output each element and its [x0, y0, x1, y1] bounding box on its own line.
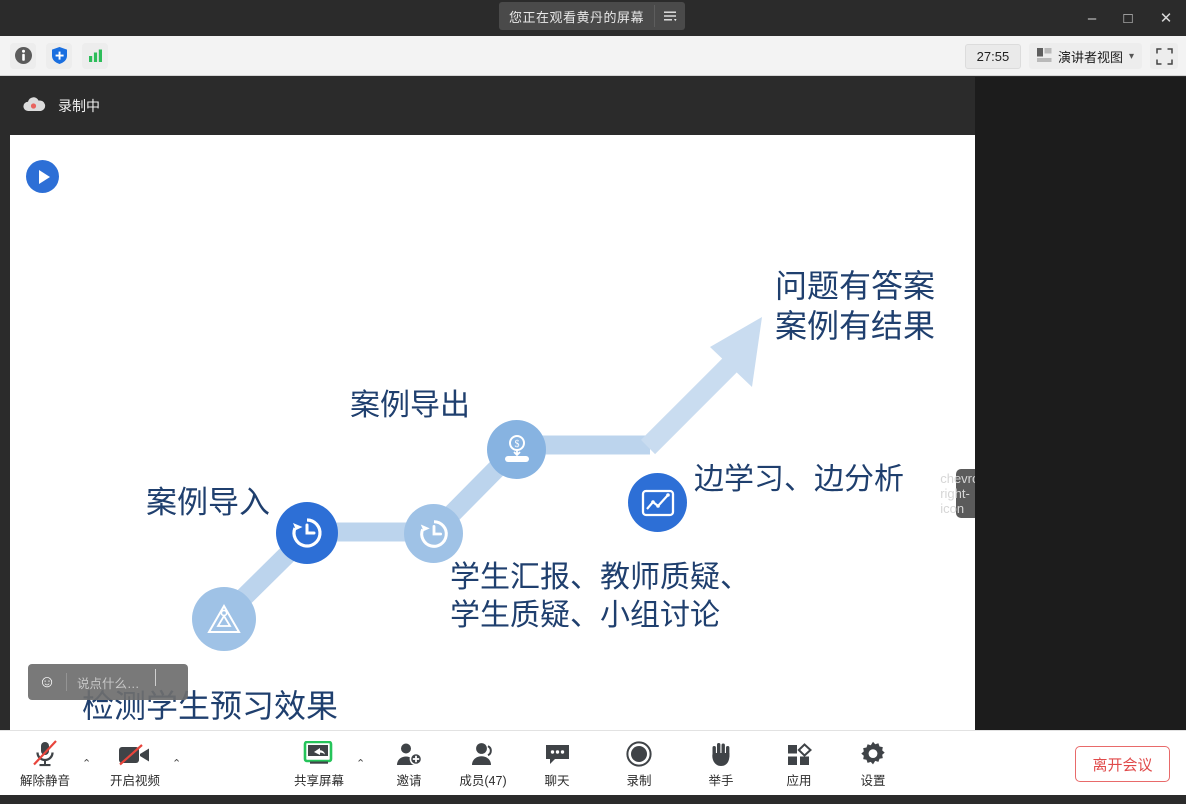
- apps-label: 应用: [786, 770, 811, 789]
- shield-security-icon[interactable]: [46, 43, 72, 69]
- microphone-muted-icon: [31, 738, 59, 767]
- history-clock-icon: [289, 515, 325, 551]
- raise-hand-button[interactable]: 举手: [684, 738, 758, 790]
- raise-hand-label: 举手: [708, 770, 733, 789]
- recording-indicator-bar: 录制中: [0, 77, 975, 135]
- record-label: 录制: [626, 770, 651, 789]
- network-signal-icon[interactable]: [82, 43, 108, 69]
- presentation-slide[interactable]: $ 问题有答案 案例有结果 案例导出 边学习、边分析 案例导入 学生汇报、教师质…: [10, 135, 975, 769]
- top-toolbar: 27:55 演讲者视图 ▾: [0, 36, 1186, 76]
- node-money-export[interactable]: $: [487, 420, 546, 479]
- slide-text-answer: 问题有答案 案例有结果: [775, 266, 935, 346]
- panel-collapse-handle[interactable]: chevron-right-icon: [956, 469, 975, 518]
- settings-label: 设置: [860, 770, 885, 789]
- apps-grid-icon: [786, 738, 812, 767]
- cloud-recording-icon: [22, 97, 46, 116]
- chat-input-placeholder: 说点什么…: [77, 673, 140, 692]
- slide-text-analyze: 边学习、边分析: [694, 461, 904, 499]
- recording-label: 录制中: [58, 96, 100, 116]
- participant-rail: 曹慧 护理系25张晓波: [975, 77, 1186, 730]
- share-screen-icon: [303, 738, 335, 767]
- toolbar-right-group: 27:55 演讲者视图 ▾: [965, 36, 1178, 76]
- close-button[interactable]: ✕: [1146, 0, 1186, 36]
- gear-icon: [860, 738, 886, 767]
- triangle-network-icon: [206, 603, 242, 635]
- view-mode-selector[interactable]: 演讲者视图 ▾: [1029, 43, 1142, 69]
- video-button-label: 开启视频: [110, 770, 160, 789]
- node-clock-report[interactable]: [404, 504, 463, 563]
- layout-view-icon: [1037, 48, 1052, 65]
- leave-meeting-button[interactable]: 离开会议: [1075, 746, 1170, 782]
- invite-button[interactable]: 邀请: [372, 738, 446, 790]
- participants-icon: [469, 738, 497, 767]
- money-hand-icon: $: [500, 434, 534, 466]
- share-screen-label: 共享屏幕: [294, 770, 344, 789]
- view-mode-label: 演讲者视图: [1058, 47, 1123, 66]
- audio-options-caret[interactable]: ⌃: [82, 757, 91, 770]
- chart-analysis-icon: [641, 488, 675, 518]
- meeting-timer: 27:55: [965, 44, 1021, 69]
- chevron-down-icon: ▾: [1129, 51, 1134, 62]
- mute-button-label: 解除静音: [20, 770, 70, 789]
- video-options-caret[interactable]: ⌃: [172, 757, 181, 770]
- slide-text-import: 案例导入: [146, 484, 270, 523]
- chat-button[interactable]: 聊天: [520, 738, 594, 790]
- fullscreen-icon[interactable]: [1150, 43, 1178, 69]
- share-screen-button[interactable]: 共享屏幕: [282, 738, 356, 790]
- sharing-notice-badge[interactable]: 您正在观看黄丹的屏幕: [499, 2, 685, 30]
- maximize-button[interactable]: □: [1110, 0, 1146, 36]
- settings-button[interactable]: 设置: [836, 738, 910, 790]
- chat-input-pill[interactable]: ☺ 说点什么…: [28, 664, 188, 700]
- hamburger-menu-icon[interactable]: [655, 2, 685, 30]
- mute-button[interactable]: 解除静音: [8, 738, 82, 790]
- text-caret: [155, 669, 156, 686]
- svg-text:$: $: [514, 439, 519, 450]
- node-clock-import[interactable]: [276, 502, 338, 564]
- node-triangle-network[interactable]: [192, 587, 256, 651]
- divider: [66, 673, 67, 691]
- camera-muted-icon: [118, 738, 152, 767]
- sharing-notice-label: 您正在观看黄丹的屏幕: [509, 7, 644, 26]
- title-bar: 您正在观看黄丹的屏幕 – □ ✕: [0, 0, 1186, 36]
- shared-screen-stage: 录制中: [0, 77, 975, 730]
- history-clock-icon: [417, 517, 451, 551]
- chat-label: 聊天: [544, 770, 569, 789]
- record-button[interactable]: 录制: [602, 738, 676, 790]
- share-options-caret[interactable]: ⌃: [356, 757, 365, 770]
- minimize-button[interactable]: –: [1074, 0, 1110, 36]
- window-controls: – □ ✕: [1074, 0, 1186, 36]
- participants-label: 成员(47): [459, 770, 506, 789]
- meeting-controls-bar: 解除静音 ⌃ 开启视频 ⌃ 共享屏幕 ⌃: [0, 730, 1186, 795]
- participants-button[interactable]: 成员(47): [446, 738, 520, 790]
- info-icon[interactable]: [10, 43, 36, 69]
- record-icon: [626, 738, 652, 767]
- apps-button[interactable]: 应用: [762, 738, 836, 790]
- invite-user-icon: [395, 738, 423, 767]
- raise-hand-icon: [709, 738, 734, 767]
- invite-label: 邀请: [396, 770, 421, 789]
- chat-bubble-icon: [544, 738, 571, 767]
- video-button[interactable]: 开启视频: [98, 738, 172, 790]
- slide-text-report: 学生汇报、教师质疑、 学生质疑、小组讨论: [450, 559, 750, 634]
- emoji-icon[interactable]: ☺: [28, 672, 66, 692]
- node-chart-analysis[interactable]: [628, 473, 687, 532]
- slide-text-export: 案例导出: [350, 387, 470, 425]
